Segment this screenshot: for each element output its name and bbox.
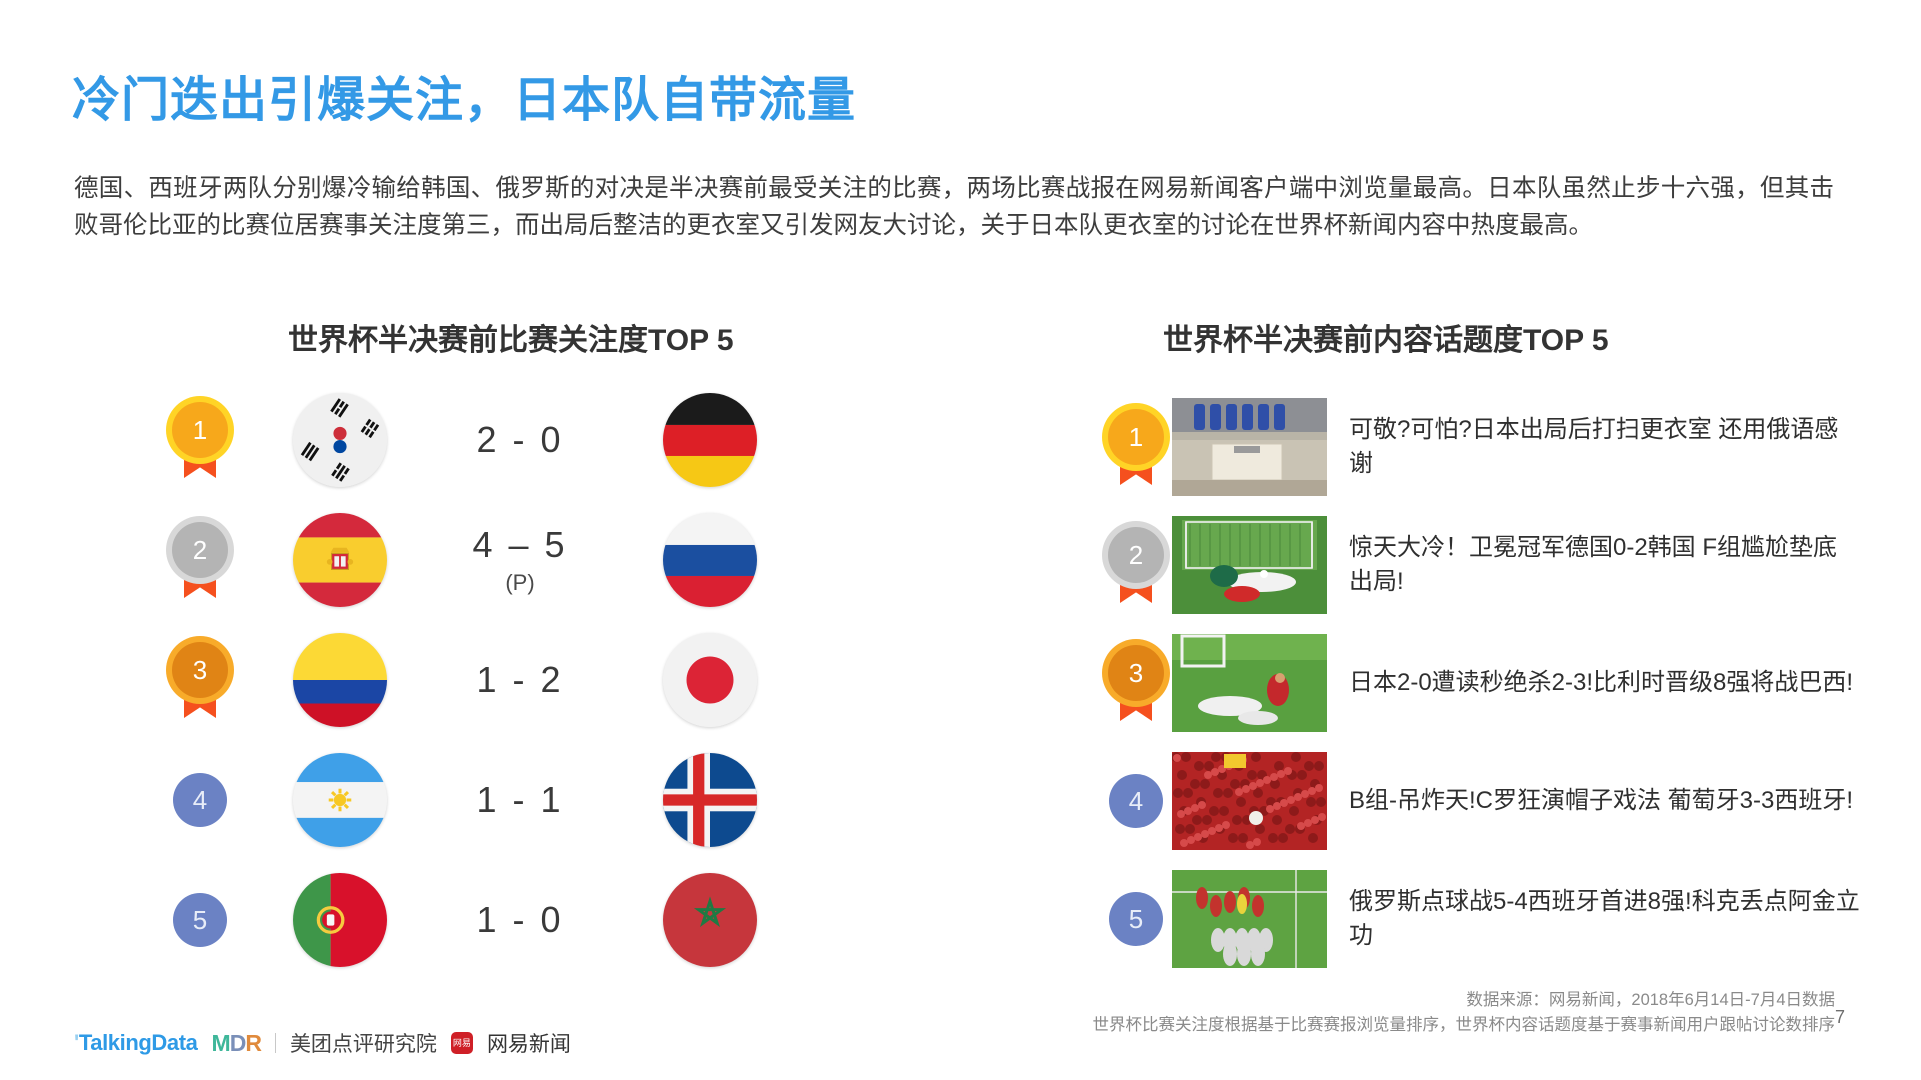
team-b-cell [620, 633, 800, 727]
score-note: (P) [505, 570, 534, 596]
flag-icon-iceland [663, 753, 757, 847]
rank-cell: 1 [140, 402, 260, 478]
score-value: 1 - 0 [476, 899, 563, 941]
rank-cell: 4 [140, 773, 260, 827]
team-a-cell [260, 513, 420, 607]
score-cell: 1 - 0 [420, 899, 620, 941]
match-ranking-table: 1 2 - 0 2 [140, 380, 880, 980]
medal-icon-2: 2 [1108, 527, 1164, 603]
team-b-cell [620, 393, 800, 487]
rank-cell: 3 [140, 642, 260, 718]
score-cell: 4 – 5 (P) [420, 524, 620, 596]
medal-rank-number: 3 [1108, 645, 1164, 701]
medal-icon-3: 3 [1108, 645, 1164, 721]
team-a-cell [260, 873, 420, 967]
mdr-m: M [212, 1030, 230, 1056]
footer-logos: 'TalkingData MDR 美团点评研究院 网易 网易新闻 [74, 1028, 571, 1058]
news-headline: 俄罗斯点球战5-4西班牙首进8强!科克丢点阿金立功 [1349, 885, 1860, 953]
rank-badge-4: 4 [1109, 774, 1163, 828]
data-source-note: 数据来源：网易新闻，2018年6月14日-7月4日数据 世界杯比赛关注度根据基于… [1093, 988, 1836, 1038]
flag-icon-korea [293, 393, 387, 487]
topic-ranking-list: 1 可敬?可怕?日本出局后打扫更衣室 还用俄语感谢 2 惊天大冷！卫冕冠军德国0… [1100, 388, 1860, 978]
rank-cell: 4 [1100, 774, 1172, 828]
rank-cell: 2 [140, 522, 260, 598]
rank-cell: 2 [1100, 527, 1172, 603]
team-a-cell [260, 753, 420, 847]
flag-icon-japan [663, 633, 757, 727]
team-b-cell [620, 513, 800, 607]
news-thumbnail-red-crowd [1172, 752, 1327, 850]
medal-icon-3: 3 [172, 642, 228, 718]
table-row: 2 4 – 5 (P) [140, 500, 880, 620]
flag-icon-germany [663, 393, 757, 487]
rank-badge-4: 4 [173, 773, 227, 827]
news-thumbnail-celebration [1172, 870, 1327, 968]
flag-icon-portugal [293, 873, 387, 967]
table-row: 3 1 - 2 [140, 620, 880, 740]
mdr-d: D [230, 1030, 246, 1056]
rank-cell: 1 [1100, 409, 1172, 485]
score-value: 1 - 1 [476, 779, 563, 821]
list-item[interactable]: 3 日本2-0遭读秒绝杀2-3!比利时晋级8强将战巴西! [1100, 624, 1860, 742]
intro-paragraph: 德国、西班牙两队分别爆冷输给韩国、俄罗斯的对决是半决赛前最受关注的比赛，两场比赛… [74, 170, 1834, 244]
rank-badge-5: 5 [1109, 892, 1163, 946]
team-a-cell [260, 633, 420, 727]
medal-rank-number: 2 [1108, 527, 1164, 583]
news-thumbnail-goal-save [1172, 516, 1327, 614]
rank-cell: 5 [140, 893, 260, 947]
medal-rank-number: 3 [172, 642, 228, 698]
news-thumbnail-pitch-down [1172, 634, 1327, 732]
meituan-logo-text: 美团点评研究院 [290, 1028, 437, 1058]
netease-logo-text: 网易新闻 [487, 1028, 571, 1058]
rank-cell: 5 [1100, 892, 1172, 946]
rank-cell: 3 [1100, 645, 1172, 721]
medal-rank-number: 2 [172, 522, 228, 578]
mdr-r: R [245, 1030, 261, 1056]
medal-icon-1: 1 [172, 402, 228, 478]
score-value: 2 - 0 [476, 419, 563, 461]
slide-page: 冷门迭出引爆关注，日本队自带流量 德国、西班牙两队分别爆冷输给韩国、俄罗斯的对决… [0, 0, 1921, 1080]
list-item[interactable]: 2 惊天大冷！卫冕冠军德国0-2韩国 F组尴尬垫底出局! [1100, 506, 1860, 624]
rank-badge-5: 5 [173, 893, 227, 947]
table-row: 4 1 - 1 [140, 740, 880, 860]
flag-icon-spain [293, 513, 387, 607]
list-item[interactable]: 4 B组-吊炸天!C罗狂演帽子戏法 葡萄牙3-3西班牙! [1100, 742, 1860, 860]
news-headline: 日本2-0遭读秒绝杀2-3!比利时晋级8强将战巴西! [1349, 666, 1860, 700]
talkingdata-logo-text: TalkingData [79, 1030, 198, 1055]
page-title: 冷门迭出引爆关注，日本队自带流量 [72, 60, 856, 130]
medal-icon-1: 1 [1108, 409, 1164, 485]
score-value: 1 - 2 [476, 659, 563, 701]
medal-icon-2: 2 [172, 522, 228, 598]
flag-icon-morocco [663, 873, 757, 967]
list-item[interactable]: 5 俄罗斯点球战5-4西班牙首进8强!科克丢点阿金立功 [1100, 860, 1860, 978]
news-headline: B组-吊炸天!C罗狂演帽子戏法 葡萄牙3-3西班牙! [1349, 784, 1860, 818]
list-item[interactable]: 1 可敬?可怕?日本出局后打扫更衣室 还用俄语感谢 [1100, 388, 1860, 506]
flag-icon-argentina [293, 753, 387, 847]
score-value: 4 – 5 [472, 524, 567, 566]
talkingdata-logo: 'TalkingData [74, 1030, 198, 1056]
flag-icon-colombia [293, 633, 387, 727]
mdr-logo: MDR [212, 1030, 261, 1057]
score-cell: 1 - 1 [420, 779, 620, 821]
news-headline: 惊天大冷！卫冕冠军德国0-2韩国 F组尴尬垫底出局! [1349, 531, 1860, 599]
flag-icon-russia [663, 513, 757, 607]
logo-divider [275, 1033, 276, 1053]
score-cell: 1 - 2 [420, 659, 620, 701]
right-section-heading: 世界杯半决赛前内容话题度TOP 5 [1163, 315, 1609, 359]
news-thumbnail-locker-room [1172, 398, 1327, 496]
team-b-cell [620, 873, 800, 967]
team-b-cell [620, 753, 800, 847]
netease-badge-icon: 网易 [451, 1032, 473, 1054]
table-row: 5 1 - 0 [140, 860, 880, 980]
medal-rank-number: 1 [1108, 409, 1164, 465]
page-number: 7 [1835, 1007, 1845, 1028]
news-headline: 可敬?可怕?日本出局后打扫更衣室 还用俄语感谢 [1349, 413, 1860, 481]
source-line-1: 数据来源：网易新闻，2018年6月14日-7月4日数据 [1093, 988, 1836, 1013]
medal-rank-number: 1 [172, 402, 228, 458]
score-cell: 2 - 0 [420, 419, 620, 461]
table-row: 1 2 - 0 [140, 380, 880, 500]
team-a-cell [260, 393, 420, 487]
source-line-2: 世界杯比赛关注度根据基于比赛赛报浏览量排序，世界杯内容话题度基于赛事新闻用户跟帖… [1093, 1013, 1836, 1038]
left-section-heading: 世界杯半决赛前比赛关注度TOP 5 [288, 315, 734, 359]
